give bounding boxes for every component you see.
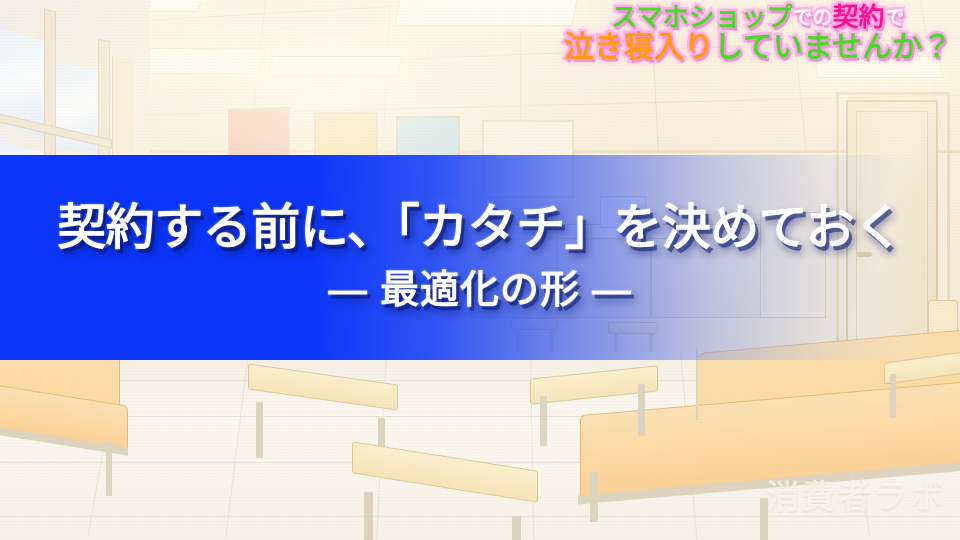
page-subtitle: — 最適化の形 — bbox=[328, 271, 632, 312]
page-title: 契約する前に、「カタチ」を決めておく bbox=[57, 203, 903, 255]
promo-seg-4: で bbox=[885, 8, 905, 28]
promo-seg-6: していませんか？ bbox=[714, 33, 952, 64]
screenshot-canvas: 契約する前に、「カタチ」を決めておく — 最適化の形 — スマホショップでの契約… bbox=[0, 0, 960, 540]
brand-watermark: 消費者ラボ bbox=[766, 470, 946, 518]
promo-seg-3: 契約 bbox=[833, 4, 885, 31]
promo-headline-line-1: スマホショップでの契約で bbox=[564, 4, 952, 31]
promo-headline-line-2: 泣き寝入りしていませんか？ bbox=[564, 33, 952, 64]
promo-seg-5: 泣き寝入り bbox=[564, 33, 714, 64]
promo-seg-2: での bbox=[793, 8, 833, 28]
promo-seg-1: スマホショップ bbox=[611, 4, 792, 31]
ceiling-light-4 bbox=[268, 56, 403, 76]
ceiling-light-2 bbox=[395, 0, 580, 26]
promo-headline-sticker: スマホショップでの契約で 泣き寝入りしていませんか？ bbox=[564, 4, 952, 63]
title-block: 契約する前に、「カタチ」を決めておく — 最適化の形 — bbox=[0, 155, 960, 360]
